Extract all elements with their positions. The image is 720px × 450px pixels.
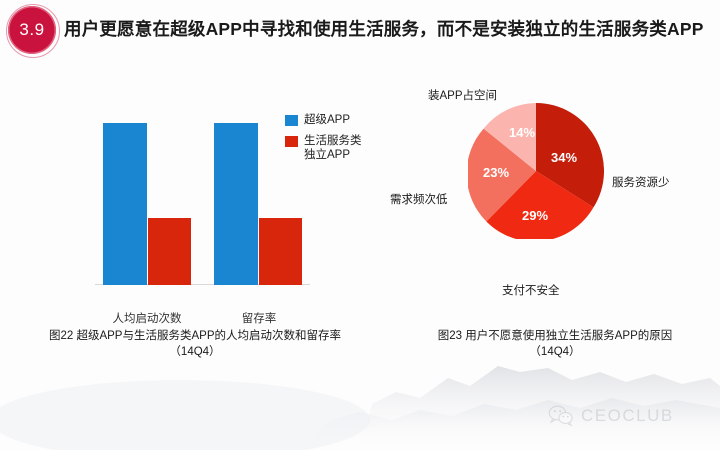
bar-chart-panel: 人均启动次数 留存率 超级APP 生活服务类 独立APP 图22 超级APP与生… — [0, 88, 390, 378]
bar-category-label-launches: 人均启动次数 — [87, 310, 207, 326]
bar-solo-app-launches — [148, 218, 191, 285]
right-caption-line1: 图23 用户不愿意使用独立生活服务APP的原因 — [390, 328, 720, 344]
bar-super-app-retention — [214, 123, 258, 285]
pie-value-app-storage: 14% — [509, 125, 535, 140]
pie-label-app-storage: 装APP占空间 — [428, 87, 497, 103]
bar-solo-app-retention — [259, 218, 302, 285]
bar-super-app-launches — [103, 123, 147, 285]
left-chart-caption: 图22 超级APP与生活服务类APP的人均启动次数和留存率 （14Q4） — [0, 328, 390, 360]
wechat-icon — [548, 405, 574, 427]
legend-swatch-blue-icon — [285, 115, 298, 126]
right-caption-line2: （14Q4） — [390, 344, 720, 360]
legend-label-super-app: 超级APP — [304, 113, 350, 127]
left-caption-line2: （14Q4） — [0, 344, 390, 360]
watermark-text: CEOCLUB — [581, 406, 674, 426]
pie-value-payment-unsafe: 29% — [522, 208, 548, 223]
legend-item-super-app: 超级APP — [285, 113, 390, 127]
section-number: 3.9 — [19, 20, 44, 40]
section-number-badge: 3.9 — [8, 6, 56, 54]
pie-value-low-demand: 23% — [483, 165, 509, 180]
left-caption-line1: 图22 超级APP与生活服务类APP的人均启动次数和留存率 — [0, 328, 390, 344]
pie-label-payment-unsafe: 支付不安全 — [502, 282, 560, 298]
pie-chart-panel: 34% 29% 23% 14% 服务资源少 支付不安全 需求频次低 装APP占空… — [390, 88, 720, 378]
bar-chart-plot-area: 人均启动次数 留存率 — [95, 110, 310, 285]
bar-chart-legend: 超级APP 生活服务类 独立APP — [285, 113, 390, 169]
right-chart-caption: 图23 用户不愿意使用独立生活服务APP的原因 （14Q4） — [390, 328, 720, 360]
page-title: 用户更愿意在超级APP中寻找和使用生活服务，而不是安装独立的生活服务类APP — [64, 16, 704, 41]
pie-chart-plot-area: 34% 29% 23% 14% — [468, 103, 604, 239]
bar-category-label-retention: 留存率 — [207, 310, 311, 326]
watermark: CEOCLUB — [548, 405, 674, 427]
pie-value-service-resources: 34% — [551, 150, 577, 165]
legend-label-solo-app: 生活服务类 独立APP — [304, 134, 362, 162]
pie-label-service-resources: 服务资源少 — [612, 174, 670, 190]
slide-root: 3.9 用户更愿意在超级APP中寻找和使用生活服务，而不是安装独立的生活服务类A… — [0, 0, 720, 450]
pie-label-low-demand: 需求频次低 — [390, 191, 448, 207]
legend-item-solo-app: 生活服务类 独立APP — [285, 134, 390, 162]
legend-swatch-red-icon — [285, 136, 298, 147]
